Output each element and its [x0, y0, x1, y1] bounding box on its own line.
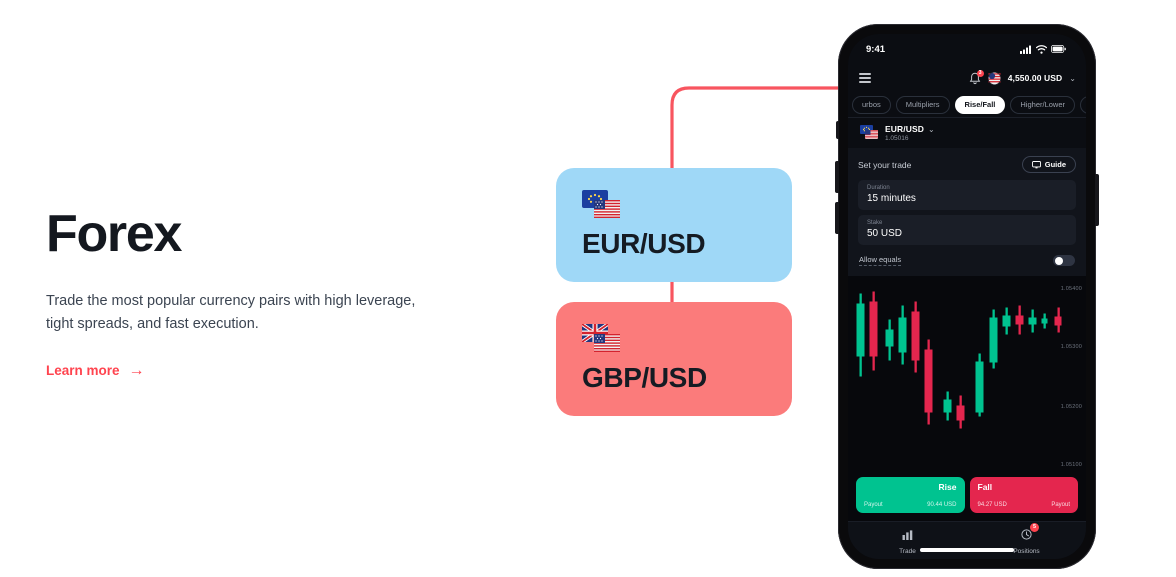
stake-field[interactable]: Stake 50 USD	[858, 215, 1076, 245]
trade-action-buttons: Rise Payout 90.44 USD Fall 94.27 USD Pay…	[856, 477, 1078, 513]
volume-up-button[interactable]	[835, 161, 839, 193]
duration-value: 15 minutes	[867, 193, 1067, 204]
chevron-down-icon[interactable]: ⌄	[928, 125, 935, 134]
flag-pair-gbpusd	[582, 324, 622, 358]
chevron-down-icon[interactable]: ⌄	[1069, 74, 1076, 83]
rise-payout-value: 90.44 USD	[927, 502, 956, 508]
rise-label: Rise	[939, 482, 957, 492]
bell-badge: 3	[977, 70, 984, 77]
nav-label-positions: Positions	[1013, 548, 1039, 555]
us-flag-icon	[865, 130, 878, 139]
currency-card-gbpusd[interactable]: GBP/USD	[556, 302, 792, 416]
tab-touch[interactable]: To	[1080, 96, 1086, 114]
allow-equals-row: Allow equals	[858, 250, 1076, 267]
us-flag-icon	[594, 334, 620, 352]
rise-payout-row: Payout 90.44 USD	[864, 502, 957, 508]
fall-button[interactable]: Fall 94.27 USD Payout	[970, 477, 1079, 513]
tab-multipliers[interactable]: Multipliers	[896, 96, 950, 114]
card-label-gbpusd: GBP/USD	[582, 362, 766, 394]
allow-equals-toggle[interactable]	[1053, 255, 1075, 266]
status-time: 9:41	[866, 44, 885, 55]
price-tick: 1.05400	[1061, 286, 1082, 292]
tab-higher-lower[interactable]: Higher/Lower	[1010, 96, 1075, 114]
account-balance: 4,550.00 USD	[1008, 73, 1063, 83]
price-tick: 1.05200	[1061, 404, 1082, 410]
battery-icon	[1051, 45, 1066, 53]
allow-equals-label: Allow equals	[859, 255, 901, 266]
phone-screen: 9:41	[848, 34, 1086, 559]
fall-payout-row: 94.27 USD Payout	[978, 502, 1071, 508]
us-flag-icon	[594, 200, 620, 218]
hero-description: Trade the most popular currency pairs wi…	[46, 290, 418, 337]
bottom-navigation: Trade 5 Positions	[848, 521, 1086, 559]
hamburger-menu-icon[interactable]	[859, 73, 871, 83]
power-button[interactable]	[1095, 174, 1099, 226]
duration-field[interactable]: Duration 15 minutes	[858, 180, 1076, 210]
card-label-eurusd: EUR/USD	[582, 228, 766, 260]
rise-button[interactable]: Rise Payout 90.44 USD	[856, 477, 965, 513]
symbol-name: EUR/USD	[885, 124, 924, 134]
currency-card-eurusd[interactable]: EUR/USD	[556, 168, 792, 282]
price-tick: 1.05100	[1061, 462, 1082, 468]
stake-value: 50 USD	[867, 228, 1067, 239]
price-chart[interactable]: 1.05400 1.05300 1.05200 1.05100 Rise Pay…	[848, 276, 1086, 521]
symbol-selector[interactable]: EUR/USD ⌄ 1.05016	[848, 118, 1086, 148]
symbol-price: 1.05016	[885, 135, 935, 142]
panel-title: Set your trade	[858, 160, 911, 170]
cellular-signal-icon	[1020, 45, 1032, 54]
tab-rise-fall[interactable]: Rise/Fall	[955, 96, 1006, 114]
page-title: Forex	[46, 207, 466, 262]
learn-more-link[interactable]: Learn more →	[46, 363, 145, 379]
trade-settings-panel: Set your trade Guide Duration 15 minutes…	[848, 148, 1086, 276]
arrow-right-icon: →	[129, 363, 145, 379]
us-flag-icon	[988, 72, 1001, 85]
nav-item-trade[interactable]: Trade	[848, 522, 967, 559]
clock-icon: 5	[1021, 527, 1032, 545]
nav-item-positions[interactable]: 5 Positions	[967, 522, 1086, 559]
rise-payout-label: Payout	[864, 502, 883, 508]
learn-more-label: Learn more	[46, 363, 120, 378]
duration-label: Duration	[867, 185, 1067, 191]
silence-switch[interactable]	[836, 121, 839, 139]
fall-payout-label: Payout	[1051, 502, 1070, 508]
positions-badge: 5	[1030, 523, 1039, 532]
price-tick: 1.05300	[1061, 344, 1082, 350]
guide-button[interactable]: Guide	[1022, 156, 1076, 173]
fall-label: Fall	[978, 482, 993, 492]
status-icon-group	[1020, 45, 1066, 54]
flag-pair-symbol	[860, 125, 878, 141]
notification-bell-icon[interactable]: 3	[969, 72, 981, 85]
monitor-icon	[1032, 161, 1041, 169]
hero-text-block: Forex Trade the most popular currency pa…	[46, 207, 466, 380]
header-right-group: 3 4,550.00 USD ⌄	[969, 72, 1076, 85]
flag-pair-eurusd	[582, 190, 622, 224]
bar-chart-icon	[902, 527, 913, 545]
stake-label: Stake	[867, 220, 1067, 226]
volume-down-button[interactable]	[835, 202, 839, 234]
app-header: 3 4,550.00 USD ⌄	[848, 64, 1086, 92]
symbol-text-group: EUR/USD ⌄ 1.05016	[885, 124, 935, 142]
wifi-icon	[1036, 45, 1047, 54]
phone-mockup: 9:41	[838, 24, 1096, 569]
panel-header: Set your trade Guide	[858, 156, 1076, 173]
home-indicator	[920, 548, 1014, 552]
nav-label-trade: Trade	[899, 548, 916, 555]
trade-type-tabs[interactable]: urbos Multipliers Rise/Fall Higher/Lower…	[848, 92, 1086, 118]
fall-payout-value: 94.27 USD	[978, 502, 1007, 508]
guide-label: Guide	[1045, 160, 1066, 169]
status-bar: 9:41	[848, 34, 1086, 64]
tab-turbos[interactable]: urbos	[852, 96, 891, 114]
